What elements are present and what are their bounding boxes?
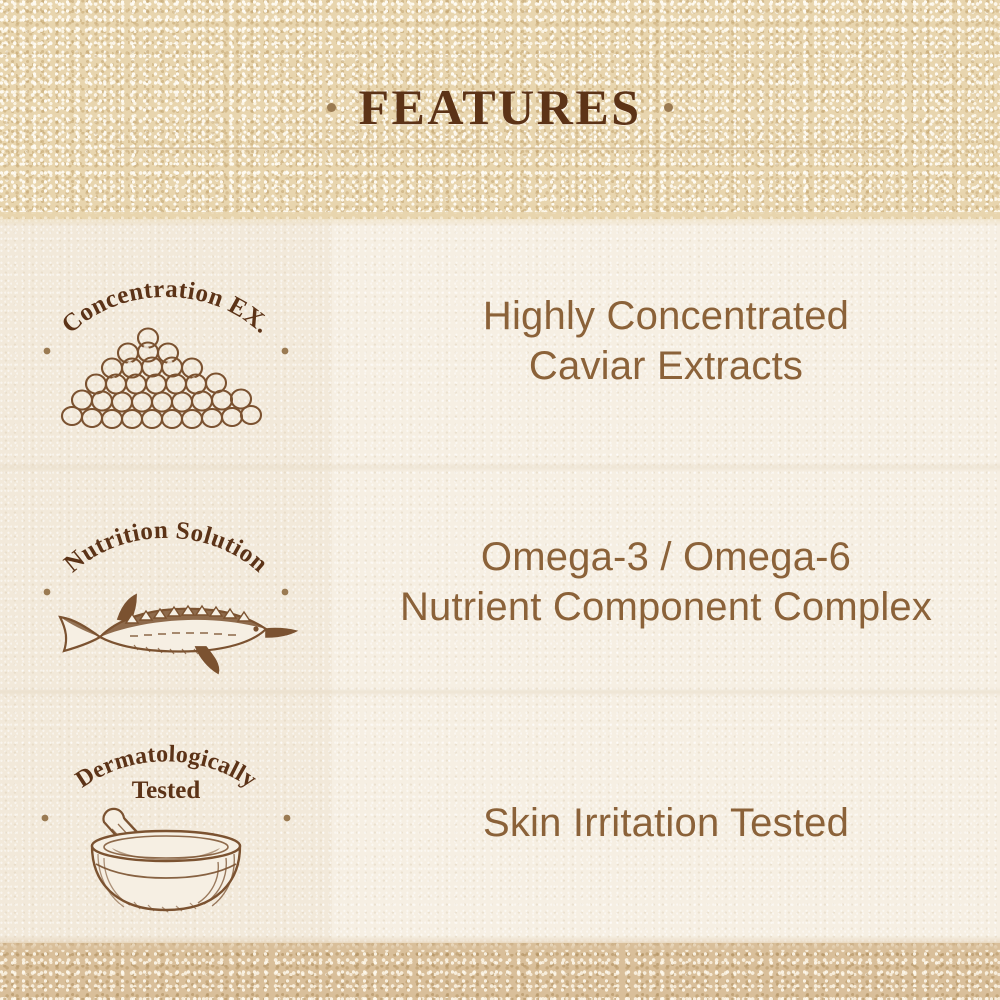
feature-row: Dermatologically Tested [0, 703, 1000, 944]
content-panel: Concentration EX. [0, 219, 1000, 943]
title-row: FEATURES [0, 82, 1000, 132]
bottom-texture-band [0, 943, 1000, 1000]
badge-dot-left [42, 814, 49, 821]
title-dot-left-icon [327, 103, 336, 112]
badge-cell: Dermatologically Tested [0, 703, 332, 944]
feature-text-cell: Highly Concentrated Caviar Extracts [332, 221, 1000, 462]
badge-nutrition-solution: Nutrition Solution [30, 489, 302, 677]
title-underline-rule [115, 147, 890, 150]
bottom-torn-edge [0, 936, 1000, 950]
svg-text:Tested: Tested [132, 777, 201, 804]
feature-text: Omega-3 / Omega-6 Nutrient Component Com… [400, 533, 932, 632]
badge-dot-right [282, 347, 289, 354]
page-title: FEATURES [358, 82, 641, 132]
feature-row: Nutrition Solution [0, 462, 1000, 703]
feature-text-cell: Skin Irritation Tested [332, 703, 1000, 944]
badge-cell: Nutrition Solution [0, 462, 332, 703]
svg-text:Concentration EX.: Concentration EX. [57, 275, 276, 338]
badge-dermatologically-tested: Dermatologically Tested [30, 730, 302, 918]
title-dot-right-icon [664, 103, 673, 112]
features-panel: Concentration EX. [0, 0, 1000, 1000]
sturgeon-fish-icon [60, 595, 296, 673]
badge-dot-left [44, 347, 51, 354]
svg-text:Nutrition Solution: Nutrition Solution [59, 516, 273, 577]
badge-dot-right [282, 588, 289, 595]
badge-dot-right [284, 814, 291, 821]
feature-text: Highly Concentrated Caviar Extracts [483, 292, 849, 391]
feature-text: Skin Irritation Tested [483, 799, 849, 849]
feature-row: Concentration EX. [0, 221, 1000, 462]
header: FEATURES [0, 0, 1000, 219]
badge-concentration-ex: Concentration EX. [30, 248, 302, 436]
badge-cell: Concentration EX. [0, 221, 332, 462]
mortar-and-pestle-icon [92, 808, 240, 911]
feature-text-cell: Omega-3 / Omega-6 Nutrient Component Com… [332, 462, 1000, 703]
badge-dot-left [44, 588, 51, 595]
